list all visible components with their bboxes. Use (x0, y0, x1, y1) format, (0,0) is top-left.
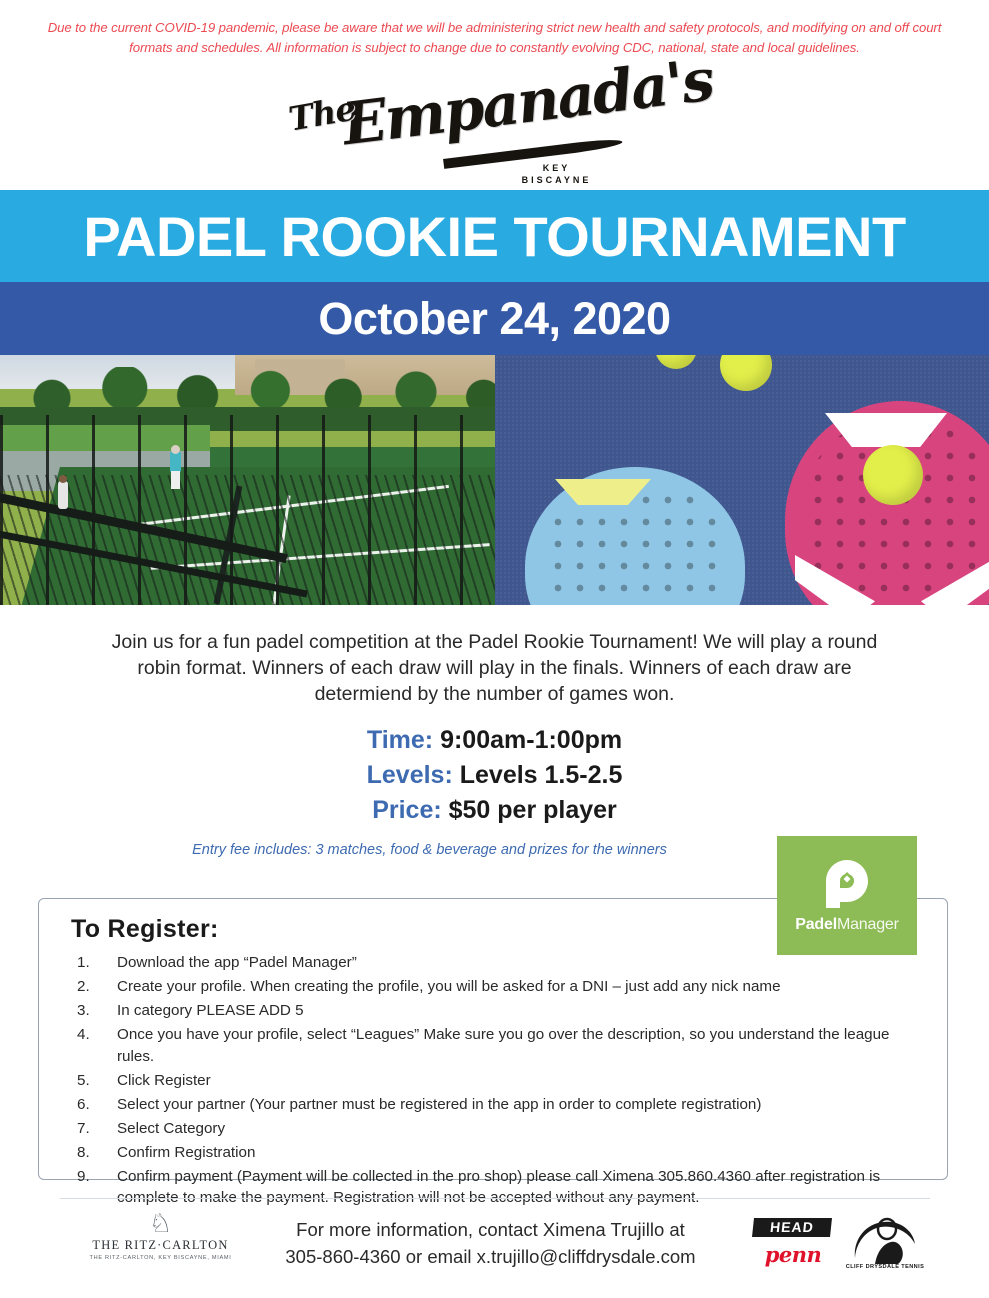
date-banner: October 24, 2020 (0, 282, 989, 355)
empanadas-logo-name: Empanada's (339, 46, 717, 159)
footer: ♘ THE RITZ·CARLTON THE RITZ-CARLTON, KEY… (0, 1198, 989, 1298)
list-item: Select Category (109, 1118, 919, 1140)
title-banner: PADEL ROOKIE TOURNAMENT (0, 190, 989, 282)
contact-line-1: For more information, contact Ximena Tru… (258, 1216, 723, 1243)
detail-time-value: 9:00am-1:00pm (440, 726, 622, 754)
padel-manager-wordmark: PadelManager (795, 916, 898, 934)
head-logo: HEAD (752, 1218, 832, 1237)
list-item: Create your profile. When creating the p… (109, 976, 919, 998)
ritz-carlton-name: THE RITZ·CARLTON (88, 1238, 233, 1253)
ritz-carlton-property: THE RITZ-CARLTON, KEY BISCAYNE, MIAMI (88, 1255, 233, 1261)
logo-location-line2: BISCAYNE (477, 174, 637, 186)
list-item: Once you have your profile, select “Leag… (109, 1024, 919, 1067)
detail-price-value: $50 per player (449, 796, 617, 824)
page-title: PADEL ROOKIE TOURNAMENT (83, 204, 905, 269)
padel-manager-name-light: Manager (837, 916, 899, 933)
list-item: Download the app “Padel Manager” (109, 952, 919, 974)
detail-levels-value: Levels 1.5-2.5 (460, 761, 623, 789)
logo-location-line1: KEY (477, 162, 637, 174)
list-item: Click Register (109, 1070, 919, 1092)
detail-time: Time: 9:00am-1:00pm (0, 723, 989, 758)
footer-divider (60, 1198, 930, 1199)
cliff-drysdale-tennis-label: CLIFF DRYSDALE TENNIS (843, 1264, 927, 1270)
ritz-carlton-logo: ♘ THE RITZ·CARLTON THE RITZ-CARLTON, KEY… (88, 1210, 233, 1261)
penn-logo: penn (763, 1242, 823, 1267)
detail-price-label: Price: (372, 796, 441, 824)
photo-strip (0, 355, 989, 605)
event-date: October 24, 2020 (318, 293, 670, 345)
contact-info: For more information, contact Ximena Tru… (258, 1216, 723, 1270)
register-steps: Download the app “Padel Manager” Create … (39, 952, 947, 1209)
padel-manager-logo: PadelManager (777, 836, 917, 955)
padel-courts-photo (0, 355, 495, 605)
detail-price: Price: $50 per player (0, 793, 989, 828)
empanadas-logo: TheEmpanada's KEY BISCAYNE (0, 70, 989, 190)
list-item: Confirm Registration (109, 1142, 919, 1164)
list-item: In category PLEASE ADD 5 (109, 1000, 919, 1022)
list-item: Select your partner (Your partner must b… (109, 1094, 919, 1116)
detail-levels-label: Levels: (367, 761, 453, 789)
intro-paragraph: Join us for a fun padel competition at t… (95, 629, 895, 707)
tennis-ball (863, 445, 923, 505)
sponsor-logos: HEAD penn CLIFF DRYSDALE TENNIS (745, 1212, 930, 1282)
lion-crest-icon: ♘ (88, 1210, 233, 1236)
detail-levels: Levels: Levels 1.5-2.5 (0, 758, 989, 793)
detail-time-label: Time: (367, 726, 433, 754)
padel-manager-name-bold: Padel (795, 916, 837, 933)
padel-manager-pin-icon (824, 858, 870, 910)
contact-line-2: 305-860-4360 or email x.trujillo@cliffdr… (258, 1243, 723, 1270)
event-details: Time: 9:00am-1:00pm Levels: Levels 1.5-2… (0, 723, 989, 828)
empanadas-logo-location: KEY BISCAYNE (477, 162, 637, 186)
padel-rackets-photo (495, 355, 989, 605)
